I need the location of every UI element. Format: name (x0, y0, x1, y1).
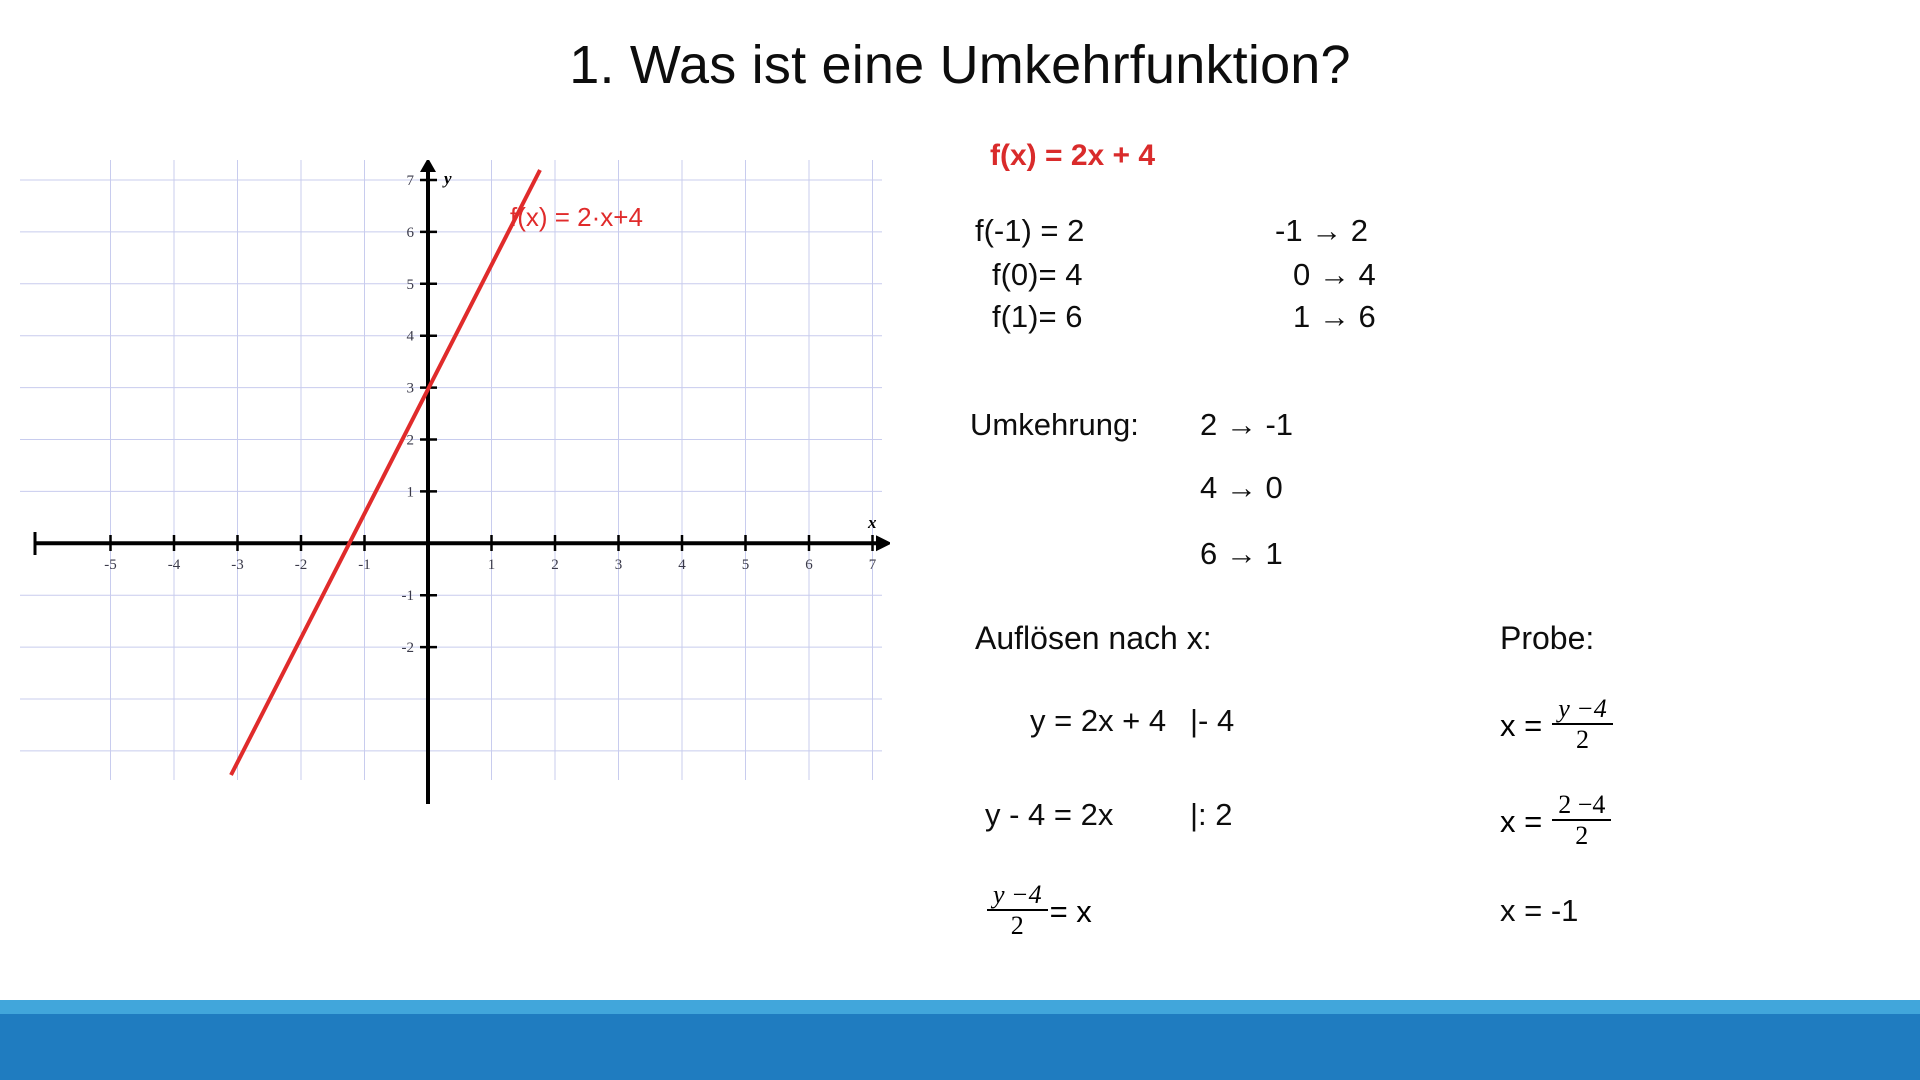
fraction-denominator: 2 (1569, 821, 1594, 849)
solve-operation: |- 4 (1190, 703, 1234, 739)
inverse-mapping: 4 → 0 (1200, 470, 1283, 506)
x-tick-label: 1 (488, 557, 496, 573)
y-tick-label: 4 (407, 329, 415, 345)
value-mapping: 1 → 6 (1293, 299, 1376, 335)
x-tick-label: -4 (168, 557, 181, 573)
y-tick-label: -2 (402, 640, 415, 656)
y-tick-label: 1 (407, 484, 415, 500)
x-tick-label: 2 (551, 557, 559, 573)
fraction-denominator: 2 (1570, 725, 1595, 753)
footer-accent-bar-light (0, 1000, 1920, 1014)
probe-label: Probe: (1500, 620, 1594, 657)
x-tick-label: -1 (358, 557, 371, 573)
solve-result: y −4 2 = x (985, 883, 1092, 942)
value-mapping: 0 → 4 (1293, 257, 1376, 293)
inverse-label: Umkehrung: (970, 407, 1139, 443)
y-tick-label: 2 (407, 433, 415, 449)
probe-lead: x = (1500, 708, 1542, 744)
y-axis-label: y (442, 169, 452, 188)
probe-lead: x = (1500, 804, 1542, 840)
probe-step: x = 2 −4 2 (1500, 793, 1613, 852)
x-tick-label: -2 (295, 557, 308, 573)
x-axis-label: x (867, 513, 877, 532)
fraction-numerator: 2 −4 (1552, 791, 1611, 821)
graph-background (20, 160, 890, 810)
explanation-panel: f(x) = 2x + 4 f(-1) = 2 f(0)= 4 f(1)= 6 … (900, 125, 1910, 965)
x-tick-label: 3 (615, 557, 623, 573)
y-tick-label: 7 (407, 173, 415, 189)
probe-result: x = -1 (1500, 893, 1578, 929)
function-formula: f(x) = 2x + 4 (990, 139, 1155, 173)
curve-label: f(x) = 2·x+4 (510, 202, 643, 232)
fraction-numerator: y −4 (1552, 695, 1613, 725)
value-expression: f(1)= 6 (992, 299, 1082, 335)
solve-equation: y = 2x + 4 (1030, 703, 1166, 739)
x-tick-label: 7 (869, 557, 877, 573)
x-tick-label: 6 (805, 557, 813, 573)
footer-accent-bar-dark (0, 1014, 1920, 1080)
y-tick-label: 5 (407, 277, 415, 293)
solve-equation: y - 4 = 2x (985, 797, 1113, 833)
fraction: y −4 2 (987, 881, 1048, 940)
function-graph: -5 -4 -3 -2 -1 1 2 3 4 5 6 7 7 6 5 4 3 2… (20, 160, 890, 810)
inverse-mapping: 2 → -1 (1200, 407, 1293, 443)
probe-step: x = y −4 2 (1500, 697, 1615, 756)
x-tick-label: 4 (678, 557, 686, 573)
fraction-numerator: y −4 (987, 881, 1048, 911)
solve-operation: |: 2 (1190, 797, 1233, 833)
y-tick-label: -1 (402, 588, 415, 604)
y-tick-label: 6 (407, 225, 415, 241)
x-tick-label: -5 (104, 557, 117, 573)
y-tick-label: 3 (407, 381, 415, 397)
value-mapping: -1 → 2 (1275, 213, 1368, 249)
x-tick-label: -3 (231, 557, 244, 573)
inverse-mapping: 6 → 1 (1200, 536, 1283, 572)
solve-label: Auflösen nach x: (975, 620, 1212, 657)
fraction: y −4 2 (1552, 695, 1613, 754)
graph-svg: -5 -4 -3 -2 -1 1 2 3 4 5 6 7 7 6 5 4 3 2… (20, 160, 890, 810)
value-expression: f(-1) = 2 (975, 213, 1084, 249)
page-title: 1. Was ist eine Umkehrfunktion? (0, 34, 1920, 96)
fraction-denominator: 2 (1005, 911, 1030, 939)
solve-result-tail: = x (1050, 894, 1092, 930)
fraction: 2 −4 2 (1552, 791, 1611, 850)
value-expression: f(0)= 4 (992, 257, 1082, 293)
x-tick-label: 5 (742, 557, 750, 573)
